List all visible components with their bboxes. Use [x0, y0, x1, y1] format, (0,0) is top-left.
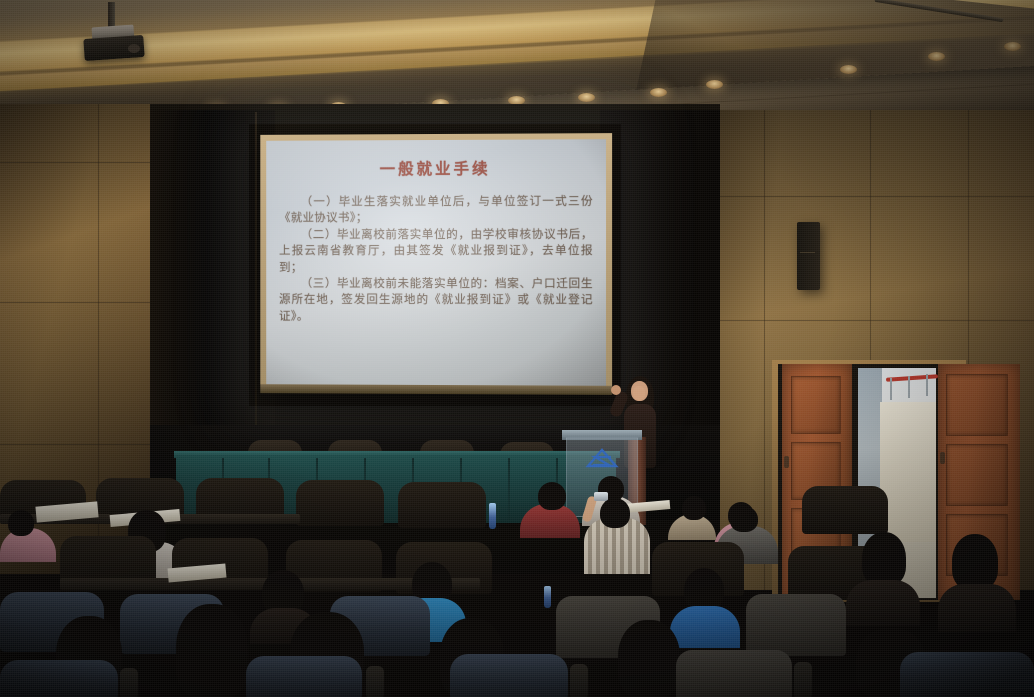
audience-head-foreground — [176, 604, 248, 697]
seat-armrest — [570, 664, 588, 697]
loudspeaker-icon — [797, 222, 820, 290]
slide-paragraph-2: （二）毕业离校前落实单位的，由学校审核协议书后，上报云南省教育厅，由其签发《就业… — [279, 226, 593, 276]
seat-armrest — [366, 666, 384, 697]
audience-head-foreground — [618, 620, 680, 697]
seat-armrest — [794, 662, 812, 697]
handrail-post — [926, 374, 928, 396]
downlight-icon — [1004, 42, 1021, 51]
downlight-icon — [706, 80, 723, 89]
slide-title: 一般就业手续 — [266, 156, 606, 179]
slide-paragraph-3: （三）毕业离校前未能落实单位的：档案、户口迁回生源所在地，签发回生源地的《就业报… — [279, 275, 593, 325]
audience-head — [862, 532, 906, 586]
audience-head — [538, 482, 566, 510]
projector-lens-icon — [128, 44, 140, 53]
water-bottle — [544, 586, 551, 608]
audience-member — [670, 606, 740, 648]
downlight-icon — [928, 52, 945, 61]
audience-head — [600, 498, 630, 528]
slide-paragraph-1: （一）毕业生落实就业单位后，与单位签订一式三份《就业协议书》； — [279, 193, 593, 226]
audience-head — [952, 534, 998, 590]
downlight-icon — [578, 93, 595, 102]
screen-bottom-bar — [260, 384, 612, 395]
slide-body: （一）毕业生落实就业单位后，与单位签订一式三份《就业协议书》； （二）毕业离校前… — [279, 193, 593, 325]
presenter-face — [633, 386, 645, 400]
audience-head — [682, 496, 706, 520]
seat[interactable] — [746, 594, 846, 656]
projection-screen-frame: 一般就业手续 （一）毕业生落实就业单位后，与单位签订一式三份《就业协议书》； （… — [260, 133, 612, 395]
audience-area — [0, 470, 1034, 697]
seat-armrest — [120, 668, 138, 697]
handrail-post — [890, 378, 892, 400]
seat[interactable] — [676, 650, 792, 697]
curtain-seam — [255, 112, 257, 462]
audience-member — [846, 580, 920, 626]
presenter-hand — [611, 385, 621, 395]
auditorium-photo: 一般就业手续 （一）毕业生落实就业单位后，与单位签订一式三份《就业协议书》； （… — [0, 0, 1034, 697]
seat[interactable] — [900, 652, 1034, 697]
audience-member — [938, 584, 1016, 632]
podium-logo-icon — [582, 446, 622, 472]
seat[interactable] — [296, 480, 384, 526]
audience-head — [8, 510, 34, 536]
seat[interactable] — [802, 486, 888, 534]
seat[interactable] — [450, 654, 568, 697]
handrail-post — [908, 376, 910, 398]
projection-screen: 一般就业手续 （一）毕业生落实就业单位后，与单位签订一式三份《就业协议书》； （… — [266, 139, 606, 387]
downlight-icon — [840, 65, 857, 74]
seat[interactable] — [0, 660, 118, 697]
seat[interactable] — [246, 656, 362, 697]
loudspeaker-grille-line — [800, 252, 815, 253]
seat[interactable] — [398, 482, 486, 528]
audience-head — [730, 506, 758, 532]
downlight-icon — [650, 88, 667, 97]
